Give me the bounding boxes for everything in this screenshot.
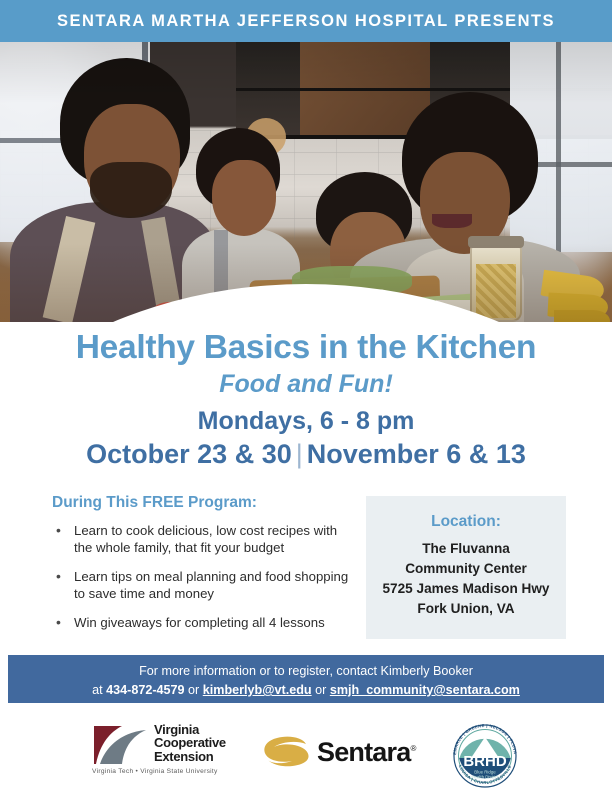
contact-line-2: at 434-872-4579 or kimberlyb@vt.edu or s… [8,681,604,700]
dates-second: November 6 & 13 [307,439,526,469]
location-line: 5725 James Madison Hwy [366,579,566,599]
sentara-word-text: Sentara [317,737,410,767]
location-line: Community Center [366,559,566,579]
contact-at-label: at [92,683,106,697]
contact-or-1: or [185,683,203,697]
location-line: The Fluvanna [366,539,566,559]
flyer-page: SENTARA MARTHA JEFFERSON HOSPITAL PRESEN… [0,0,612,792]
vce-line-2: Cooperative [154,736,226,749]
brhd-subtitle-1: Blue Ridge [524,718,525,719]
page-subtitle: Food and Fun! [0,369,612,400]
brhd-ring-bottom: LOUISA | CHARLOTTESVILLE [524,718,525,719]
sentara-swirl-icon [262,735,310,769]
vce-tagline: Virginia Tech • Virginia State Universit… [92,768,218,775]
dates-separator: | [292,439,307,469]
location-line: Fork Union, VA [366,599,566,619]
contact-phone[interactable]: 434-872-4579 [106,683,184,697]
location-box: Location: The Fluvanna Community Center … [366,496,566,639]
contact-line-1: For more information or to register, con… [8,662,604,681]
contact-email-secondary[interactable]: smjh_community@sentara.com [330,683,520,697]
location-heading: Location: [366,513,566,531]
contact-email-primary[interactable]: kimberlyb@vt.edu [203,683,312,697]
sentara-registered-mark: ® [410,744,415,753]
program-bullet-list: Learn to cook delicious, low cost recipe… [52,522,357,631]
virginia-cooperative-extension-logo: Virginia Cooperative Extension Virginia … [92,724,264,778]
vce-line-3: Extension [154,750,226,763]
header-title: SENTARA MARTHA JEFFERSON HOSPITAL PRESEN… [57,12,555,31]
vce-line-1: Virginia [154,723,226,736]
title-block: Healthy Basics in the Kitchen Food and F… [0,330,612,470]
content-area: During This FREE Program: Learn to cook … [0,494,612,644]
header-bar: SENTARA MARTHA JEFFERSON HOSPITAL PRESEN… [0,0,612,42]
program-details: During This FREE Program: Learn to cook … [52,494,357,642]
sentara-wordmark: Sentara® [317,737,416,768]
schedule-dates: October 23 & 30|November 6 & 13 [0,438,612,470]
brhd-acronym: BRHD [524,718,525,719]
vce-swoosh-icon [92,724,148,766]
brhd-logo: BRHD Blue Ridge Health District ALBEMARL… [446,718,524,790]
schedule-time: Mondays, 6 - 8 pm [0,406,612,437]
hero-photo: Family cooking together in a kitchen wit… [0,42,612,322]
contact-or-2: or [312,683,330,697]
brhd-seal-icon: BRHD Blue Ridge Health District ALBEMARL… [446,718,524,790]
brhd-ring-top: ALBEMARLE | GREENE | NELSON | FLUVANNA [524,718,525,719]
list-item: Learn tips on meal planning and food sho… [52,568,357,603]
list-item: Learn to cook delicious, low cost recipe… [52,522,357,557]
page-title: Healthy Basics in the Kitchen [0,330,612,367]
hero-vignette [0,42,612,322]
list-item: Win giveaways for completing all 4 lesso… [52,614,357,631]
contact-person-name: Kimberly Booker [381,664,473,678]
dates-first: October 23 & 30 [86,439,292,469]
vce-wordmark: Virginia Cooperative Extension [154,723,226,763]
contact-intro: For more information or to register, con… [139,664,380,678]
brhd-acronym-text: BRHD [463,753,506,770]
brhd-subtitle-2: Health District [524,718,525,719]
sentara-logo: Sentara® [262,732,422,772]
contact-bar: For more information or to register, con… [8,655,604,703]
logo-row: Virginia Cooperative Extension Virginia … [0,710,612,792]
program-heading: During This FREE Program: [52,494,357,512]
